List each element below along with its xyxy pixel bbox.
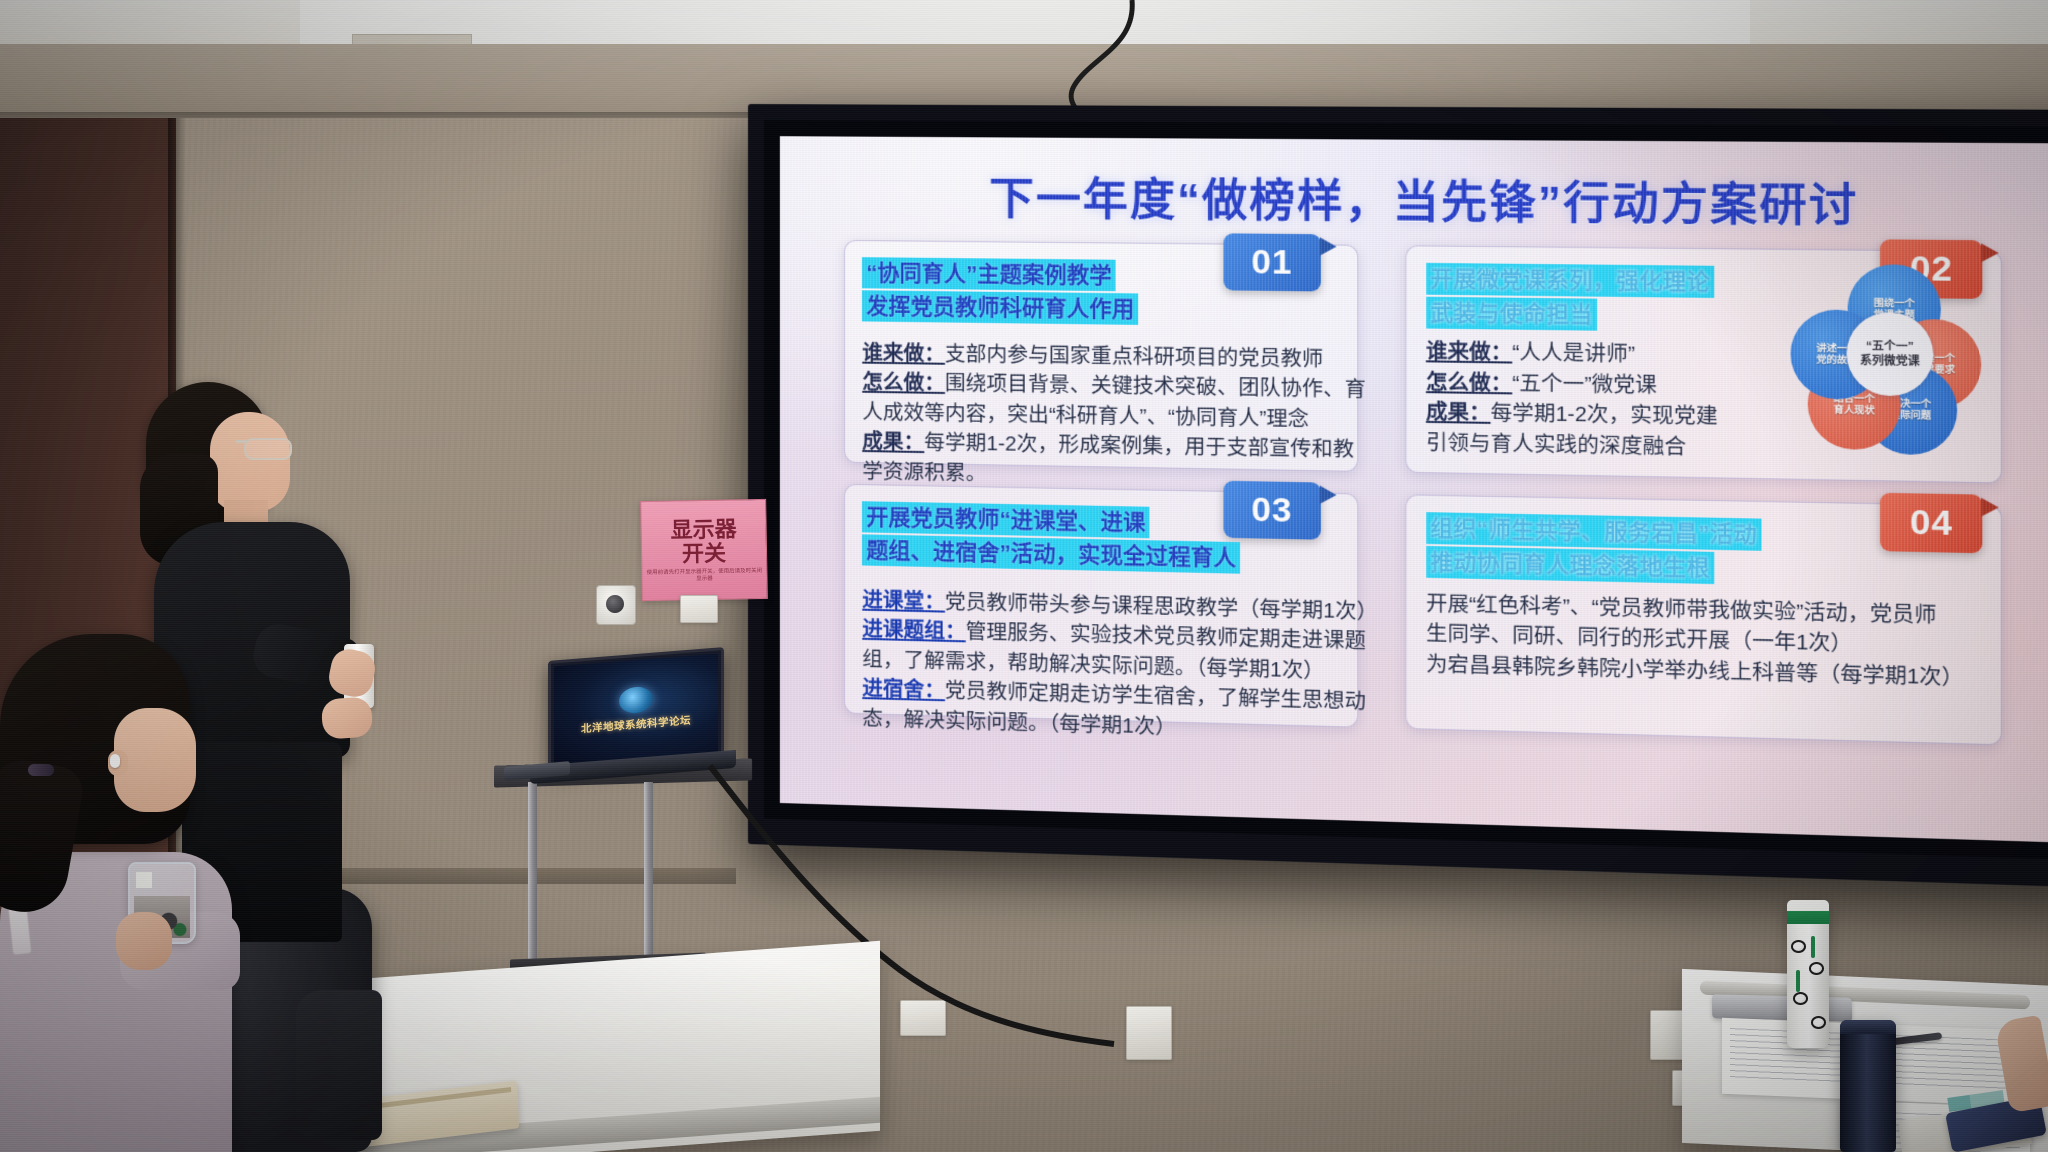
card-heading-line: 开展党员教师“进课堂、进课 <box>862 501 1149 538</box>
chair-armrest <box>296 990 382 1140</box>
slide-card-02: 02 开展微党课系列，强化理论 武装与使命担当 谁来做：“人人是讲师” 怎么做：… <box>1405 245 2002 483</box>
body-label: 进宿舍： <box>862 677 945 702</box>
body-text: 支部内参与国家重点科研项目的党员教师 <box>945 343 1323 372</box>
body-text: 引领与育人实践的深度融合 <box>1426 431 1686 459</box>
badge-fold-icon <box>1320 238 1337 257</box>
thermos-cap <box>1787 900 1829 924</box>
attendee-hand <box>116 912 172 970</box>
card-heading-line: 开展微党课系列，强化理论 <box>1426 262 1714 297</box>
card-heading-line: “协同育人”主题案例教学 <box>862 257 1116 291</box>
card-heading-line: 题组、进宿舍”活动，实现全过程育人 <box>862 535 1240 574</box>
ceiling-recess <box>300 0 1750 46</box>
slide-card-03: 03 开展党员教师“进课堂、进课 题组、进宿舍”活动，实现全过程育人 进课堂：党… <box>844 484 1358 727</box>
body-text: 态，解决实际问题。（每学期1次） <box>862 707 1176 739</box>
slide-card-04: 04 组织“师生共学、服务宕昌”活动 推动协同育人理念落地生根 开展“红色科考”… <box>1405 495 2002 745</box>
slide-canvas: 下一年度“做榜样，当先锋”行动方案研讨 01 “协同育人”主题案例教学 发挥党员… <box>780 136 2048 843</box>
body-text: 每学期1-2次，实现党建 <box>1491 401 1718 428</box>
display-switch-sign: 显示器 开关 使用前请先打开显示器开关，使用后请及时关闭显示器 <box>640 499 768 601</box>
card-body-02: 谁来做：“人人是讲师” 怎么做：“五个一”微党课 成果：每学期1-2次，实现党建… <box>1426 337 1784 464</box>
diagram-center-label: “五个一”系列微党课 <box>1847 312 1934 397</box>
body-text: 围绕项目背景、关键技术突破、团队协作、育 <box>945 372 1366 402</box>
slide-title: 下一年度“做榜样，当先锋”行动方案研讨 <box>847 162 2012 237</box>
card-heading-line: 组织“师生共学、服务宕昌”活动 <box>1426 512 1761 551</box>
dark-thermos[interactable] <box>1840 1020 1896 1152</box>
body-label: 怎么做： <box>1426 370 1512 395</box>
card-body-01: 谁来做：支部内参与国家重点科研项目的党员教师 怎么做：围绕项目背景、关键技术突破… <box>862 338 1339 495</box>
body-label: 成果： <box>1426 400 1491 425</box>
badge-fold-icon <box>1320 486 1337 505</box>
jar-label <box>136 872 152 888</box>
badge-fold-icon <box>1982 244 1999 263</box>
card-heading-line: 推动协同育人理念落地生根 <box>1426 546 1714 584</box>
screenshot-root: 下一年度“做榜样，当先锋”行动方案研讨 01 “协同育人”主题案例教学 发挥党员… <box>0 0 2048 1152</box>
laptop-screen[interactable]: 北洋地球系统科学论坛 天津大学地球系统科学学院 <box>554 654 718 765</box>
center-line: “五个一” <box>1866 340 1914 353</box>
bamboo-motif <box>1811 936 1815 958</box>
body-label: 谁来做： <box>1426 340 1512 365</box>
card-heading-line: 武装与使命担当 <box>1426 296 1597 330</box>
body-label: 进课堂： <box>862 589 945 614</box>
wall-outlet-2[interactable] <box>1126 1006 1172 1060</box>
light-switch-plate[interactable] <box>680 595 718 623</box>
card-heading-01: “协同育人”主题案例教学 发挥党员教师科研育人作用 <box>862 257 1291 329</box>
body-text: 学资源积累。 <box>862 460 986 485</box>
card-body-04: 开展“红色科考”、“党员教师带我做实验”活动，党员师 生同学、同研、同行的形式开… <box>1426 589 1980 694</box>
knob-icon[interactable] <box>606 595 624 613</box>
glasses-icon <box>244 438 292 460</box>
five-ones-diagram: 围绕一个党课主题 解读一个党建要求 解决一个实际问题 结合一个育人现状 讲述一个… <box>1804 264 1986 442</box>
card-heading-04: 组织“师生共学、服务宕昌”活动 推动协同育人理念落地生根 <box>1426 512 1925 591</box>
glasses-temple <box>236 440 248 443</box>
laptop-screen-title: 北洋地球系统科学论坛 <box>581 712 691 736</box>
card-body-03: 进课堂：党员教师带头参与课程思政教学（每学期1次） 进课题组：管理服务、实验技术… <box>862 586 1339 748</box>
panda-motif <box>1791 940 1806 953</box>
body-label: 怎么做： <box>862 371 945 395</box>
body-label: 成果： <box>862 430 924 454</box>
slide-card-01: 01 “协同育人”主题案例教学 发挥党员教师科研育人作用 谁来做：支部内参与国家… <box>844 240 1358 472</box>
hair-tie <box>28 764 54 776</box>
body-label: 谁来做： <box>862 341 945 365</box>
panda-thermos[interactable] <box>1787 900 1829 1048</box>
ceiling-cable <box>1040 0 1200 120</box>
body-text: 人成效等内容，突出“科研育人”、“协同育人”理念 <box>862 401 1309 431</box>
sign-note: 使用前请先打开显示器开关，使用后请及时关闭显示器 <box>645 568 763 583</box>
center-line: 系列微党课 <box>1860 355 1920 368</box>
panda-motif <box>1811 1016 1826 1029</box>
panda-motif <box>1793 992 1808 1005</box>
card-heading-line: 发挥党员教师科研育人作用 <box>862 290 1138 325</box>
sign-line-2: 开关 <box>682 542 726 566</box>
body-label: 进课题组： <box>862 618 965 644</box>
badge-fold-icon <box>1982 498 1999 517</box>
presenter-face <box>210 412 290 512</box>
bamboo-motif <box>1796 970 1800 992</box>
body-text: 每学期1-2次，形成案例集，用于支部宣传和教 <box>924 431 1354 462</box>
petal-line: 育人现状 <box>1834 405 1875 417</box>
card-heading-03: 开展党员教师“进课堂、进课 题组、进宿舍”活动，实现全过程育人 <box>862 501 1291 577</box>
body-text: “人人是讲师” <box>1512 341 1635 366</box>
attendee-seated <box>0 612 250 1152</box>
globe-icon <box>619 685 653 714</box>
earbud-icon <box>110 754 120 768</box>
wall-knob-plate[interactable] <box>596 585 636 625</box>
presenter-hand-lower <box>321 696 374 739</box>
body-text: “五个一”微党课 <box>1512 371 1657 397</box>
petal-line: 围绕一个 <box>1874 297 1915 309</box>
panda-motif <box>1809 962 1824 975</box>
sign-line-1: 显示器 <box>670 517 736 541</box>
